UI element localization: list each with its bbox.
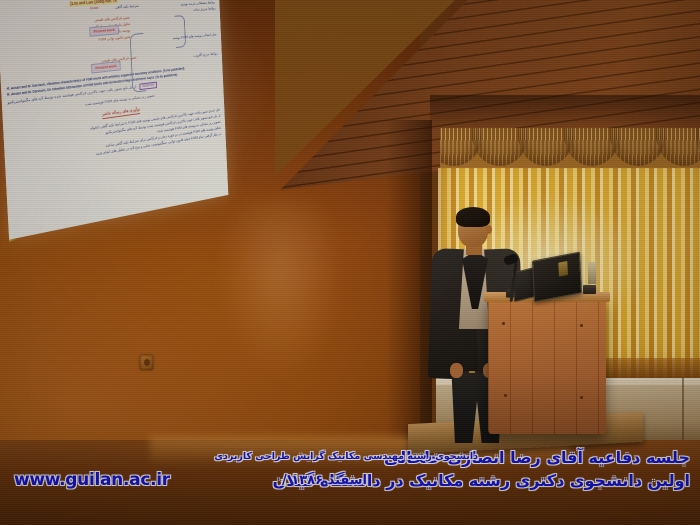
wall-light-sheen xyxy=(190,200,340,450)
hair xyxy=(456,207,490,227)
photograph: مرور و مطالعات انجام شده روابط مشتقاتی م… xyxy=(0,0,700,525)
branch-label-3: روابط مرزی گلروب xyxy=(148,51,218,64)
slide-section-heading: نوآوری های رساله حاضر xyxy=(102,106,140,119)
ceiling-shadow xyxy=(430,95,700,131)
caption-sub-line-1: دانشجوی رشته مهندسی مکانیک گرایش طراحی ک… xyxy=(214,451,478,462)
left-hand xyxy=(450,363,463,378)
wall-corner-shadow xyxy=(386,120,432,470)
slide-brace-left xyxy=(130,33,147,93)
device-box xyxy=(583,285,596,294)
water-bottle xyxy=(588,262,596,284)
caption-website-url: www.guilan.ac.ir xyxy=(14,470,170,490)
podium xyxy=(488,298,606,434)
caption-date: اسفند ۱۳۸۶ / xyxy=(282,473,367,488)
caption-overlay: جلسه دفاعیه آقای رضا انصاری خلخالی دانشج… xyxy=(0,439,700,525)
slide-brace-right xyxy=(175,15,186,48)
power-outlet-icon xyxy=(140,355,153,370)
present-work-badge-1: Present work xyxy=(92,27,117,35)
ear xyxy=(486,225,492,234)
